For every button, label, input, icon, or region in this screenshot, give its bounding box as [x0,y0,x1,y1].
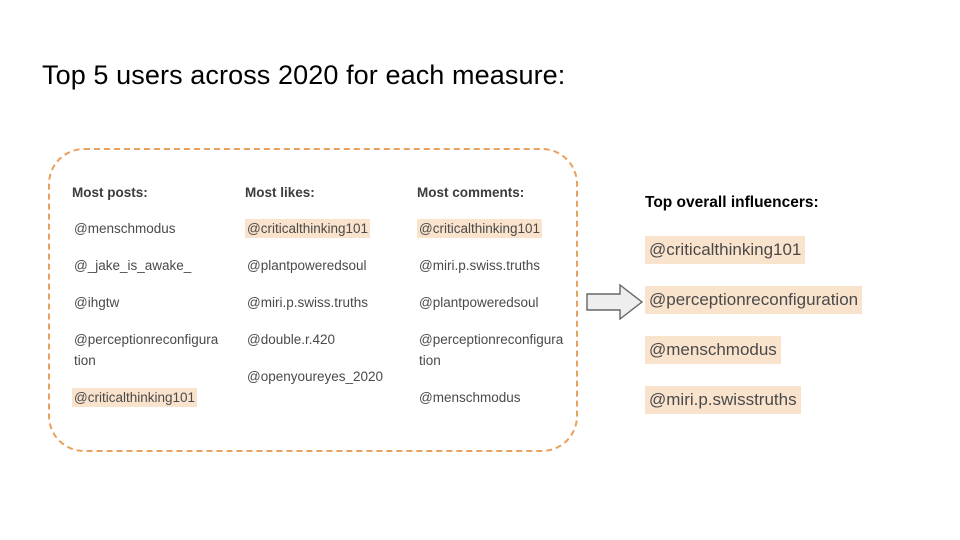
list-item: @criticalthinking101 [645,236,945,264]
username-chip: @menschmodus [417,388,523,407]
username-chip-highlighted: @criticalthinking101 [245,219,370,238]
column-heading-most-comments: Most comments: [417,184,577,201]
list-item: @miri.p.swiss.truths [245,292,393,313]
username-chip: @plantpoweredsoul [417,293,541,312]
list-item: @menschmodus [645,336,945,364]
username-chip-highlighted: @perceptionreconfiguration [645,286,862,314]
right-block-arrow-icon [586,283,644,321]
user-list-most-posts: @menschmodus @_jake_is_awake_ @ihgtw @pe… [72,218,232,408]
column-heading-most-likes: Most likes: [245,184,405,201]
username-chip: @perceptionreconfiguration [72,330,220,370]
list-item: @criticalthinking101 [417,218,565,239]
list-item: @openyoureyes_2020 [245,366,393,387]
username-chip: @menschmodus [72,219,178,238]
measure-column-most-posts: Most posts: @menschmodus @_jake_is_awake… [72,184,232,424]
list-item: @_jake_is_awake_ [72,255,220,276]
username-chip: @ihgtw [72,293,121,312]
username-chip: @_jake_is_awake_ [72,256,193,275]
influencers-heading: Top overall influencers: [645,193,945,213]
list-item: @plantpoweredsoul [417,292,565,313]
username-chip-highlighted: @miri.p.swisstruths [645,386,801,414]
measure-column-most-likes: Most likes: @criticalthinking101 @plantp… [245,184,405,403]
influencers-list: @criticalthinking101 @perceptionreconfig… [645,236,945,414]
username-chip: @double.r.420 [245,330,337,349]
list-item: @criticalthinking101 [72,387,220,408]
list-item: @miri.p.swisstruths [645,386,945,414]
username-chip: @perceptionreconfiguration [417,330,565,370]
user-list-most-comments: @criticalthinking101 @miri.p.swiss.truth… [417,218,577,408]
list-item: @menschmodus [417,387,565,408]
username-chip: @plantpoweredsoul [245,256,369,275]
username-chip: @openyoureyes_2020 [245,367,385,386]
page-title: Top 5 users across 2020 for each measure… [42,58,565,92]
slide-canvas: Top 5 users across 2020 for each measure… [0,0,960,540]
list-item: @perceptionreconfiguration [645,286,945,314]
top-influencers-panel: Top overall influencers: @criticalthinki… [645,193,945,436]
username-chip-highlighted: @criticalthinking101 [417,219,542,238]
measure-column-most-comments: Most comments: @criticalthinking101 @mir… [417,184,577,424]
list-item: @menschmodus [72,218,220,239]
user-list-most-likes: @criticalthinking101 @plantpoweredsoul @… [245,218,405,387]
username-chip-highlighted: @criticalthinking101 [645,236,805,264]
list-item: @criticalthinking101 [245,218,393,239]
measures-group-box: Most posts: @menschmodus @_jake_is_awake… [48,148,578,452]
list-item: @double.r.420 [245,329,393,350]
list-item: @plantpoweredsoul [245,255,393,276]
list-item: @perceptionreconfiguration [72,329,220,371]
list-item: @ihgtw [72,292,220,313]
column-heading-most-posts: Most posts: [72,184,232,201]
list-item: @perceptionreconfiguration [417,329,565,371]
username-chip-highlighted: @menschmodus [645,336,781,364]
username-chip: @miri.p.swiss.truths [245,293,370,312]
username-chip-highlighted: @criticalthinking101 [72,388,197,407]
username-chip: @miri.p.swiss.truths [417,256,542,275]
list-item: @miri.p.swiss.truths [417,255,565,276]
